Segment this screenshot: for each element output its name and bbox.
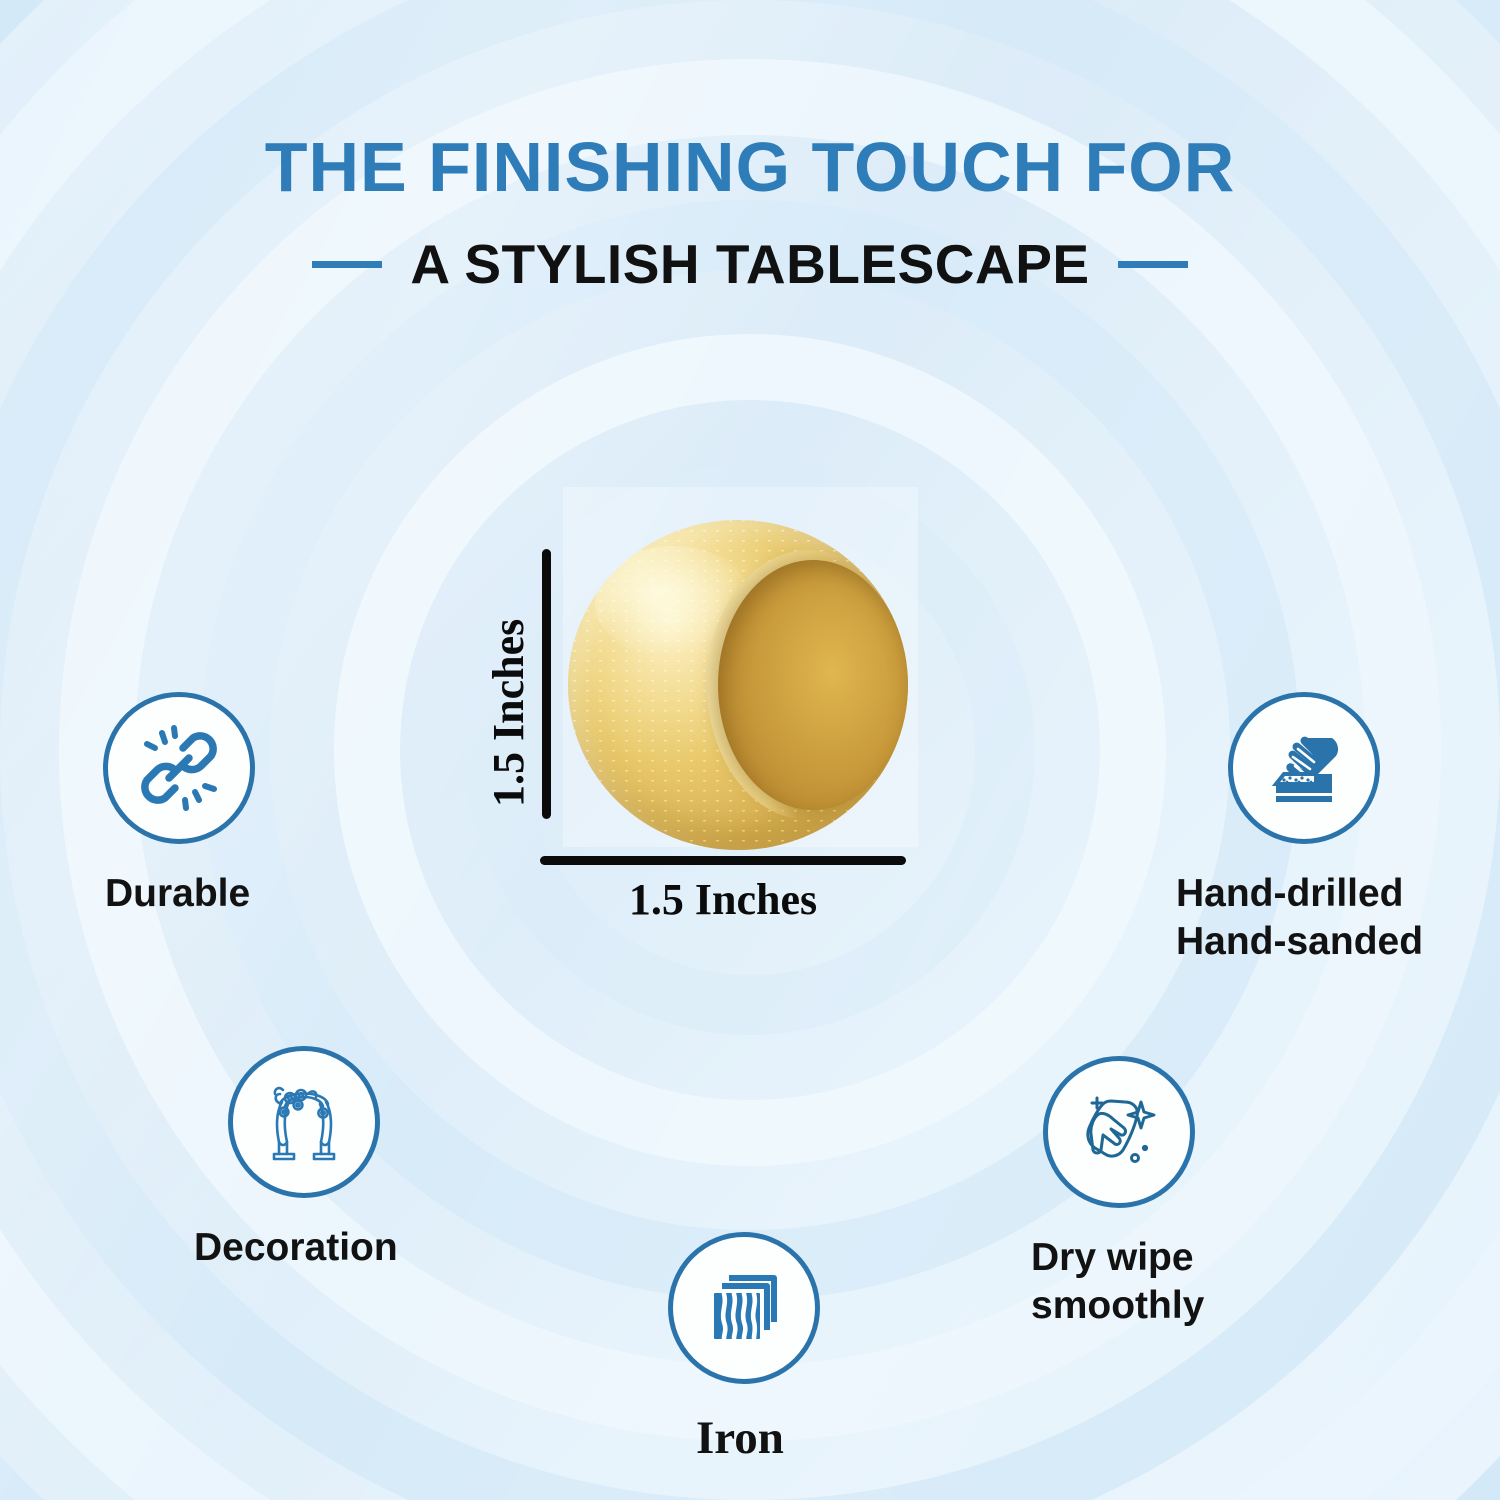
feature-iron-label: Iron [696,1410,820,1467]
feature-iron[interactable]: Iron [668,1232,820,1467]
feature-decoration[interactable]: Decoration [228,1046,398,1272]
metal-sheets-icon [668,1232,820,1384]
feature-hand-drilled-label: Hand-drilled Hand-sanded [1176,870,1423,965]
feature-decoration-label: Decoration [194,1224,398,1272]
napkin-ring-body [568,520,908,850]
headline-secondary: A STYLISH TABLESCAPE [410,232,1089,296]
dimension-label-width: 1.5 Inches [540,874,906,925]
napkin-ring-opening [718,560,908,811]
dimension-bar-horizontal [540,856,906,865]
dimension-bar-vertical [542,549,551,819]
dash-left-icon [312,261,382,268]
product-photo-napkin-ring [568,520,908,850]
chain-link-icon [103,692,255,844]
hand-sanding-icon [1228,692,1380,844]
feature-durable[interactable]: Durable [103,692,255,918]
dimension-label-height-wrap: 1.5 Inches [483,807,733,857]
feature-dry-wipe-label: Dry wipe smoothly [1031,1234,1204,1329]
hand-wiping-cloth-icon [1043,1056,1195,1208]
feature-dry-wipe[interactable]: Dry wipe smoothly [1043,1056,1204,1329]
infographic-canvas: THE FINISHING TOUCH FOR A STYLISH TABLES… [0,0,1500,1500]
dash-right-icon [1118,261,1188,268]
wedding-arch-icon [228,1046,380,1198]
feature-hand-drilled-sanded[interactable]: Hand-drilled Hand-sanded [1228,692,1423,965]
headline-primary: THE FINISHING TOUCH FOR [0,132,1500,202]
feature-durable-label: Durable [105,870,255,918]
headline-secondary-row: A STYLISH TABLESCAPE [0,232,1500,296]
dimension-label-height: 1.5 Inches [483,557,533,807]
